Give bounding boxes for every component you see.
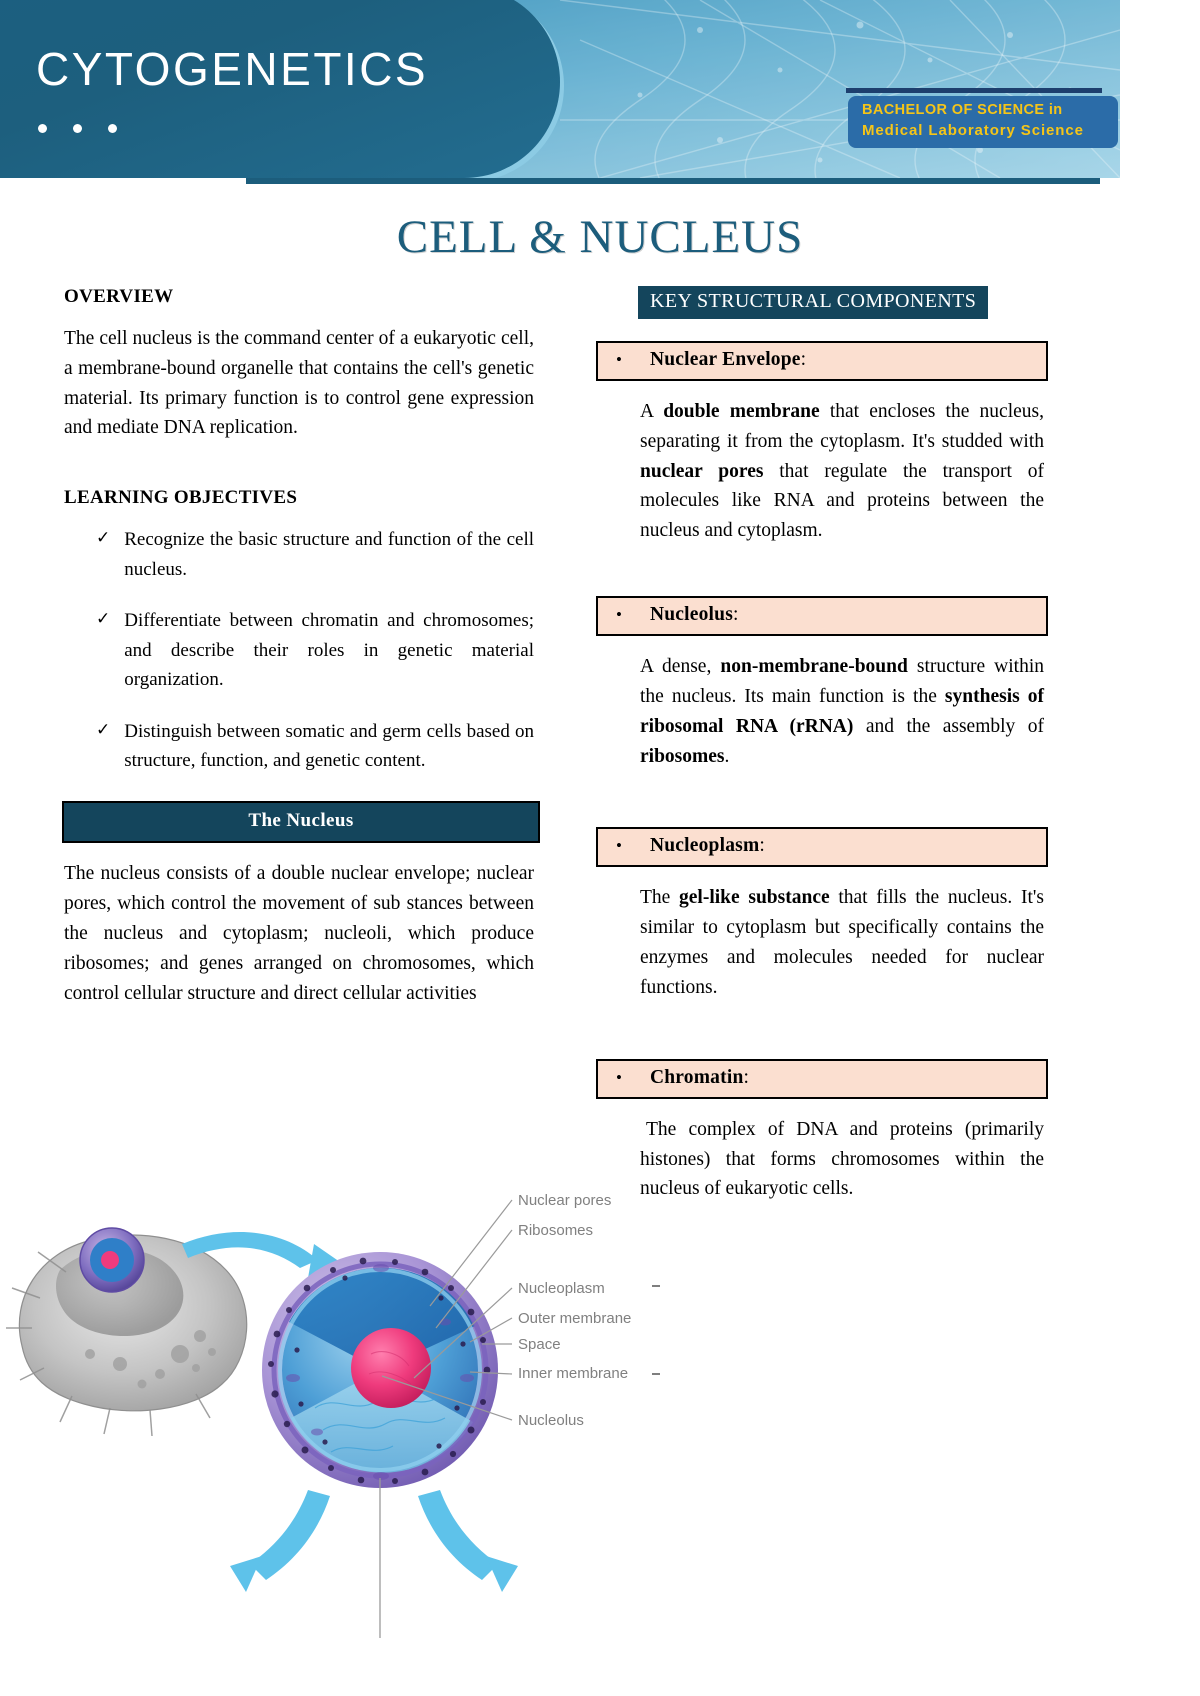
label-inner-membrane: Inner membrane — [518, 1365, 628, 1382]
component-body-nucleolus: A dense, non-membrane-bound structure wi… — [596, 636, 1048, 771]
header-dots-decoration — [38, 124, 117, 133]
title-divider-rule — [246, 178, 1100, 184]
key-components-bar: KEY STRUCTURAL COMPONENTS — [638, 286, 988, 319]
component-title: Nucleolus: — [650, 604, 739, 626]
label-ribosomes: Ribosomes — [518, 1222, 593, 1239]
content-columns: OVERVIEW The cell nucleus is the command… — [0, 264, 1200, 1204]
key-components-label: KEY STRUCTURAL COMPONENTS — [650, 290, 976, 312]
component-header-nucleolus: • Nucleolus: — [596, 596, 1048, 636]
left-column: OVERVIEW The cell nucleus is the command… — [64, 286, 534, 1204]
dot-3 — [108, 124, 117, 133]
spacer — [596, 771, 1048, 805]
page-header: CYTOGENETICS BACHELOR OF SCIENCE in Medi… — [0, 0, 1120, 178]
component-body-nuclear-envelope: A double membrane that encloses the nucl… — [596, 381, 1048, 546]
checkmark-icon: ✓ — [96, 606, 110, 694]
nucleus-cutaway-illustration — [262, 1252, 498, 1488]
spacer — [596, 1003, 1048, 1037]
degree-badge: BACHELOR OF SCIENCE in Medical Laborator… — [848, 96, 1118, 148]
component-title: Nucleoplasm: — [650, 835, 765, 857]
component-header-chromatin: • Chromatin: — [596, 1059, 1048, 1099]
right-column: KEY STRUCTURAL COMPONENTS • Nuclear Enve… — [596, 286, 1048, 1204]
dot-1 — [38, 124, 47, 133]
split-arrows-icon — [230, 1478, 518, 1638]
nucleus-diagram: Nuclear pores Ribosomes Nucleoplasm Oute… — [0, 1178, 660, 1678]
spacer — [64, 443, 534, 487]
label-space: Space — [518, 1336, 561, 1353]
degree-line-2: Medical Laboratory Science — [862, 121, 1104, 141]
bullet-icon: • — [616, 837, 622, 854]
component-body-nucleoplasm: The gel-like substance that fills the nu… — [596, 867, 1048, 1002]
spacer — [596, 546, 1048, 574]
nucleus-section-label: The Nucleus — [248, 810, 353, 831]
component-header-nucleoplasm: • Nucleoplasm: — [596, 827, 1048, 867]
component-title: Nuclear Envelope: — [650, 349, 806, 371]
component-header-nuclear-envelope: • Nuclear Envelope: — [596, 341, 1048, 381]
bullet-icon: • — [616, 606, 622, 623]
course-title: CYTOGENETICS — [36, 42, 428, 96]
objectives-list: ✓ Recognize the basic structure and func… — [64, 525, 534, 775]
overview-heading: OVERVIEW — [64, 286, 534, 308]
degree-rule — [846, 88, 1102, 93]
label-nuclear-pores: Nuclear pores — [518, 1192, 611, 1209]
bullet-icon: • — [616, 1069, 622, 1086]
overview-paragraph: The cell nucleus is the command center o… — [64, 324, 534, 443]
objectives-heading: LEARNING OBJECTIVES — [64, 487, 534, 509]
objective-text: Recognize the basic structure and functi… — [124, 525, 534, 584]
objective-text: Differentiate between chromatin and chro… — [124, 606, 534, 694]
label-nucleoplasm: Nucleoplasm — [518, 1280, 605, 1297]
dot-2 — [73, 124, 82, 133]
degree-line-1: BACHELOR OF SCIENCE in — [862, 101, 1104, 121]
nucleus-section-bar: The Nucleus — [62, 801, 540, 843]
checkmark-icon: ✓ — [96, 525, 110, 584]
objective-text: Distinguish between somatic and germ cel… — [124, 717, 534, 776]
list-item: ✓ Distinguish between somatic and germ c… — [64, 717, 534, 776]
component-body-chromatin: The complex of DNA and proteins (primari… — [596, 1099, 1048, 1204]
bullet-icon: • — [616, 351, 622, 368]
label-nucleolus: Nucleolus — [518, 1412, 584, 1429]
nuclear-envelope-bracket — [652, 1286, 660, 1374]
page-title: CELL & NUCLEUS — [0, 210, 1200, 264]
list-item: ✓ Differentiate between chromatin and ch… — [64, 606, 534, 694]
whole-cell-illustration — [6, 1228, 247, 1436]
label-outer-membrane: Outer membrane — [518, 1310, 631, 1327]
nucleus-diagram-svg: Nuclear pores Ribosomes Nucleoplasm Oute… — [0, 1178, 660, 1678]
list-item: ✓ Recognize the basic structure and func… — [64, 525, 534, 584]
nucleus-paragraph: The nucleus consists of a double nuclear… — [64, 859, 534, 1008]
checkmark-icon: ✓ — [96, 717, 110, 776]
component-title: Chromatin: — [650, 1067, 749, 1089]
